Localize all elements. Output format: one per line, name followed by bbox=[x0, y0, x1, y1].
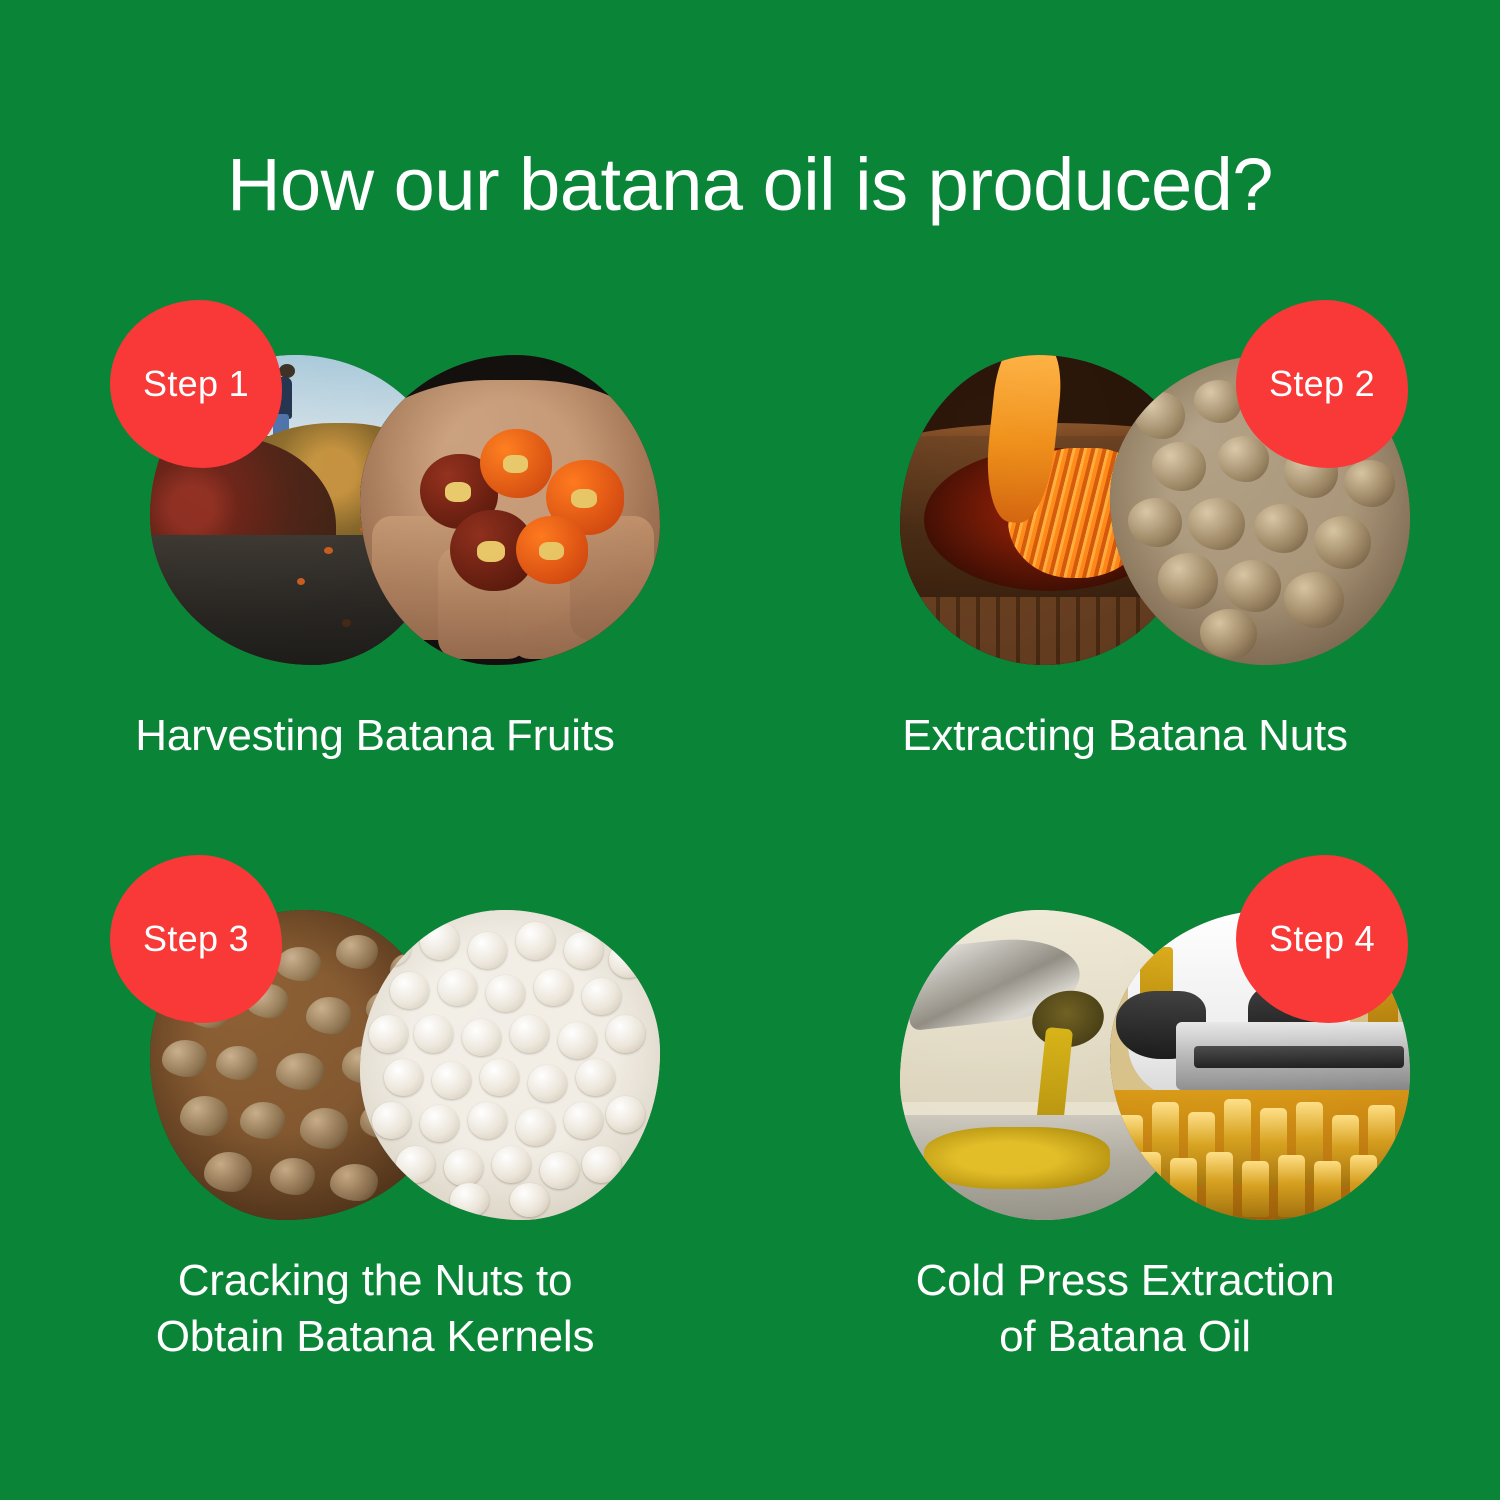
step-1-badge-label: Step 1 bbox=[143, 363, 249, 405]
step-2-caption: Extracting Batana Nuts bbox=[750, 708, 1500, 764]
page-title: How our batana oil is produced? bbox=[0, 146, 1500, 224]
step-card-2: Step 2 Extracting Batana Nuts bbox=[750, 300, 1500, 855]
step-4-badge: Step 4 bbox=[1236, 855, 1408, 1023]
step-card-3: Step 3 Cracking the Nuts to Obtain Batan… bbox=[0, 855, 750, 1410]
step-3-image-2 bbox=[360, 910, 660, 1220]
step-4-badge-label: Step 4 bbox=[1269, 918, 1375, 960]
step-2-badge: Step 2 bbox=[1236, 300, 1408, 468]
step-3-badge-label: Step 3 bbox=[143, 918, 249, 960]
infographic-canvas: How our batana oil is produced? bbox=[0, 0, 1500, 1500]
step-3-badge: Step 3 bbox=[110, 855, 282, 1023]
step-card-1: Step 1 Harvesting Batana Fruits bbox=[0, 300, 750, 855]
step-1-caption: Harvesting Batana Fruits bbox=[0, 708, 750, 764]
step-1-badge: Step 1 bbox=[110, 300, 282, 468]
steps-grid: Step 1 Harvesting Batana Fruits bbox=[0, 300, 1500, 1410]
step-2-badge-label: Step 2 bbox=[1269, 363, 1375, 405]
step-1-image-2 bbox=[360, 355, 660, 665]
step-card-4: Step 4 Cold Press Extraction of Batana O… bbox=[750, 855, 1500, 1410]
step-4-caption: Cold Press Extraction of Batana Oil bbox=[750, 1253, 1500, 1366]
step-3-caption: Cracking the Nuts to Obtain Batana Kerne… bbox=[0, 1253, 750, 1366]
